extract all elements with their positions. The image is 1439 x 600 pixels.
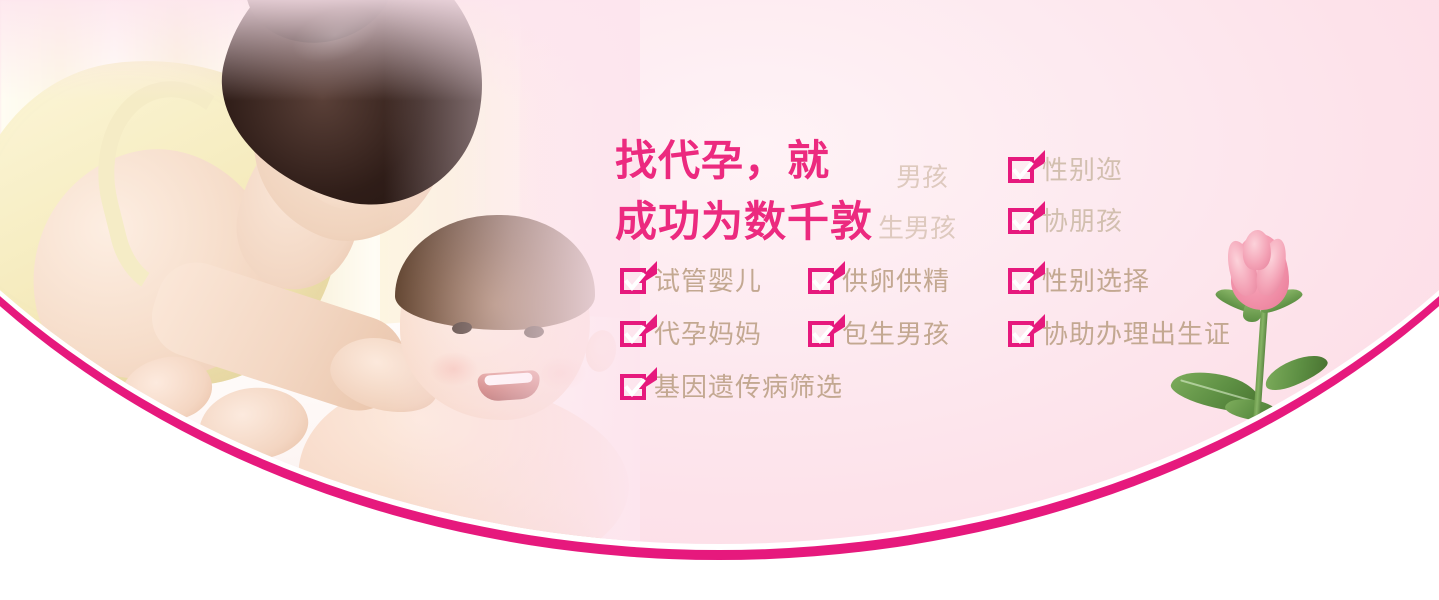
banner-text-block: 找代孕，就 成功为数千敦 男孩 生男孩 性别迩 (0, 0, 1189, 544)
checkbox-checked-icon (808, 268, 834, 294)
headline-line-2-text: 成功为数千敦 (615, 196, 873, 248)
ghost-text-line-2: 生男孩 (878, 208, 956, 245)
checkbox-checked-icon (1008, 208, 1034, 234)
list-item[interactable]: 协朋孩 (1008, 206, 1123, 236)
list-item-genetic-screening[interactable]: 基因遗传病筛选 (620, 372, 843, 402)
rose-illustration (1163, 234, 1423, 544)
list-item-label: 代孕妈妈 (654, 319, 762, 349)
headline-line-1-text: 找代孕，就 (615, 135, 830, 187)
list-item-label: 试管婴儿 (654, 266, 762, 296)
headline-line-1: 找代孕，就 (615, 135, 830, 187)
checkbox-checked-icon (1008, 321, 1034, 347)
headline-line-2: 成功为数千敦 (615, 196, 873, 248)
list-item[interactable]: 性别迩 (1008, 155, 1123, 185)
list-item-label: 性别选择 (1042, 266, 1150, 296)
list-item-label: 性别迩 (1042, 155, 1123, 185)
list-item-donor[interactable]: 供卵供精 (808, 266, 950, 296)
list-item-label: 供卵供精 (842, 266, 950, 296)
list-item-label: 协助办理出生证 (1042, 319, 1231, 349)
list-item-surrogate[interactable]: 代孕妈妈 (620, 319, 762, 349)
list-item-boy-guarantee[interactable]: 包生男孩 (808, 319, 950, 349)
finger-pinky (1277, 499, 1306, 544)
rose-leaf-right (1261, 349, 1331, 396)
list-item-birth-certificate[interactable]: 协助办理出生证 (1008, 319, 1231, 349)
list-item-gender-selection[interactable]: 性别选择 (1008, 266, 1150, 296)
list-item-label: 基因遗传病筛选 (654, 372, 843, 402)
checkbox-checked-icon (1008, 157, 1034, 183)
checkbox-checked-icon (808, 321, 834, 347)
checkbox-checked-icon (1008, 268, 1034, 294)
list-item-label: 包生男孩 (842, 319, 950, 349)
ghost-text-line-1: 男孩 (896, 157, 948, 194)
checkbox-checked-icon (620, 321, 646, 347)
list-item-label: 协朋孩 (1042, 206, 1123, 236)
checkbox-checked-icon (620, 374, 646, 400)
list-item-ivf[interactable]: 试管婴儿 (620, 266, 762, 296)
banner-stage: 找代孕，就 成功为数千敦 男孩 生男孩 性别迩 (0, 0, 1439, 544)
checkbox-checked-icon (620, 268, 646, 294)
promo-banner: 找代孕，就 成功为数千敦 男孩 生男孩 性别迩 (0, 0, 1439, 600)
